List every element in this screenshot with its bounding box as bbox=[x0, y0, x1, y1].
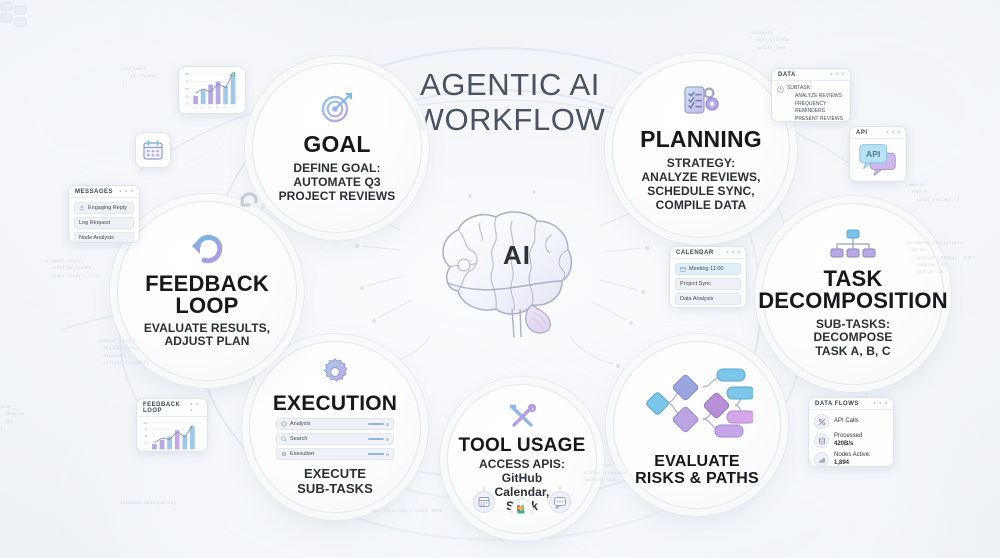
hierarchy-icon bbox=[829, 229, 877, 264]
brain-icon bbox=[420, 205, 590, 340]
node-execution[interactable]: EXECUTION Analysis Search bbox=[249, 341, 421, 513]
node-task-decomposition-subtitle: SUB-TASKS: DECOMPOSE TASK A, B, C bbox=[814, 318, 893, 360]
slack-icon bbox=[511, 499, 533, 514]
progress-bar bbox=[368, 453, 389, 456]
node-goal-title: GOAL bbox=[303, 133, 370, 156]
calendar-icon bbox=[680, 266, 686, 272]
node-task-decomposition[interactable]: TASK DECOMPOSITION SUB-TASKS: DECOMPOSE … bbox=[762, 203, 944, 385]
svg-text:100: 100 bbox=[144, 423, 149, 425]
tools-icon bbox=[507, 404, 537, 433]
page-title-line1: AGENTIC AI bbox=[400, 68, 620, 103]
message-row-label: Node Analysis bbox=[79, 235, 114, 241]
data-flow-row[interactable]: Processed 420B/s bbox=[814, 433, 888, 448]
card-api[interactable]: API • • • API bbox=[849, 126, 907, 182]
decorative-code: status: complete latency: 42ms bbox=[584, 470, 627, 485]
percent-icon bbox=[814, 414, 829, 429]
decorative-code: schedule: sync_calendar notify_team bbox=[751, 30, 791, 52]
execution-row-label: Analysis bbox=[290, 421, 310, 427]
chart-bottom-body: 1007550250 123 456 bbox=[137, 417, 207, 452]
target-icon bbox=[320, 92, 354, 129]
chart-top-body: 1007550250 JanFebMar AprMayJun bbox=[179, 67, 245, 114]
card-data-item: FREQUENCY REMINDERS bbox=[787, 101, 845, 117]
svg-text:50: 50 bbox=[145, 436, 148, 438]
node-execution-subtitle: EXECUTE SUB-TASKS bbox=[297, 466, 373, 496]
svg-text:Apr: Apr bbox=[216, 106, 220, 109]
svg-text:75: 75 bbox=[186, 81, 189, 84]
undo-arrow-icon bbox=[189, 233, 225, 270]
user-icon bbox=[79, 205, 85, 211]
calendar-row[interactable]: Project Sync bbox=[675, 278, 741, 290]
card-api-header: API • • • bbox=[850, 127, 906, 139]
node-feedback-loop-title: FEEDBACK LOOP bbox=[118, 273, 296, 318]
card-data-lead: SUBTASK: bbox=[787, 85, 845, 93]
card-chart-feedback-title: FEEDBACK LOOP bbox=[143, 402, 190, 414]
card-chart-feedback-loop[interactable]: FEEDBACK LOOP • • • 1007550250 bbox=[136, 398, 208, 452]
decorative-code: compose: report: total_reviews: 7 bbox=[906, 182, 960, 204]
card-messages-header: MESSAGES • • • bbox=[69, 186, 139, 198]
card-data[interactable]: DATA • • • SUBTASK: ANALYZE REVIEWS FREQ… bbox=[771, 68, 851, 122]
data-flow-value: 1,894 bbox=[834, 460, 849, 466]
calendar-row-label: Project Sync bbox=[680, 281, 711, 287]
bars-icon bbox=[814, 452, 829, 467]
card-menu-icon[interactable]: • • • bbox=[830, 72, 845, 78]
card-data-item: ANALYZE REVIEWS bbox=[787, 93, 845, 101]
card-calendar-header: CALENDAR • • • bbox=[670, 247, 746, 259]
node-tool-usage-apis-label: ACCESS APIs: bbox=[479, 458, 565, 472]
refresh-icon bbox=[238, 190, 260, 212]
calendar-icon bbox=[474, 492, 495, 513]
node-feedback-loop-subtitle: EVALUATE RESULTS, ADJUST PLAN bbox=[144, 322, 270, 350]
data-flow-label-text: Nodes Active: bbox=[834, 452, 871, 458]
bar-chart-feedback: 1007550250 123 456 bbox=[141, 420, 203, 452]
calendar-icon bbox=[142, 139, 164, 161]
card-menu-icon[interactable]: • • • bbox=[190, 402, 202, 414]
card-menu-icon[interactable]: • • • bbox=[119, 189, 134, 195]
card-data-title: DATA bbox=[778, 72, 796, 78]
ai-label: AI bbox=[487, 240, 547, 271]
api-chat-bubble-icon: API bbox=[855, 141, 901, 177]
cog-icon bbox=[281, 451, 287, 457]
progress-bar bbox=[368, 423, 389, 426]
calendar-row-label: Data Analysis bbox=[680, 296, 713, 302]
card-menu-icon[interactable]: • • • bbox=[873, 401, 888, 407]
node-planning[interactable]: PLANNING STRATEGY: ANALYZE REVIEWS, SCHE… bbox=[612, 60, 790, 238]
decorative-code: loop { observe act } bbox=[0, 404, 24, 433]
execution-row[interactable]: Execution bbox=[276, 448, 394, 460]
execution-task-list: Analysis Search Ex bbox=[276, 418, 394, 460]
data-flow-label: API Calls bbox=[834, 418, 859, 426]
chat-icon bbox=[550, 492, 571, 513]
calendar-row[interactable]: Meeting 11:00 bbox=[675, 263, 741, 275]
card-calendar-title: CALENDAR bbox=[676, 250, 714, 256]
card-api-title: API bbox=[856, 130, 868, 136]
card-data-flows-title: DATA FLOWS bbox=[815, 401, 859, 407]
card-menu-icon[interactable]: • • • bbox=[726, 250, 741, 256]
tool-app-icons bbox=[462, 484, 582, 514]
node-goal-subtitle: DEFINE GOAL: AUTOMATE Q3 PROJECT REVIEWS bbox=[279, 162, 396, 204]
decorative-code: run_task( 'q3_reviews' ) bbox=[122, 66, 160, 88]
svg-text:Jan: Jan bbox=[193, 107, 196, 109]
data-flow-label: Nodes Active: 1,894 bbox=[834, 452, 871, 467]
data-flow-row[interactable]: API Calls bbox=[814, 414, 888, 429]
svg-text:25: 25 bbox=[186, 95, 189, 98]
gear-icon bbox=[321, 358, 349, 391]
server-icon bbox=[814, 433, 829, 448]
card-messages[interactable]: MESSAGES • • • Engaging Reply Log Reques… bbox=[68, 185, 140, 243]
svg-text:0: 0 bbox=[187, 103, 189, 106]
page-title: AGENTIC AI WORKFLOW bbox=[400, 68, 620, 137]
node-planning-title: PLANNING bbox=[640, 128, 762, 151]
card-menu-icon[interactable]: • • • bbox=[886, 130, 901, 136]
decorative-code: planner.step() evaluate(ctx) dispatch() … bbox=[98, 338, 149, 367]
card-data-item: PRESENT REVIEWS bbox=[787, 116, 845, 122]
card-data-flows[interactable]: DATA FLOWS • • • API Calls Processed 420… bbox=[808, 397, 894, 467]
svg-text:50: 50 bbox=[186, 88, 189, 91]
svg-text:Feb: Feb bbox=[201, 107, 205, 109]
execution-row[interactable]: Analysis bbox=[276, 418, 394, 430]
svg-text:25: 25 bbox=[145, 443, 148, 445]
node-execution-title: EXECUTION bbox=[273, 393, 397, 414]
node-tool-usage[interactable]: TOOL USAGE ACCESS APIs: GitHub Calendar,… bbox=[447, 384, 597, 534]
clock-icon bbox=[777, 86, 784, 97]
execution-row[interactable]: Search bbox=[276, 433, 394, 445]
svg-text:Mar: Mar bbox=[208, 106, 212, 109]
message-row[interactable]: Log Request bbox=[74, 217, 134, 229]
infographic-canvas: AGENTIC AI WORKFLOW bbox=[0, 0, 1000, 558]
card-data-body: SUBTASK: ANALYZE REVIEWS FREQUENCY REMIN… bbox=[772, 81, 850, 122]
message-row-label: Engaging Reply bbox=[88, 205, 127, 211]
node-evaluate[interactable]: EVALUATE RISKS & PATHS bbox=[613, 341, 781, 509]
node-planning-subtitle: STRATEGY: ANALYZE REVIEWS, SCHEDULE SYNC… bbox=[641, 157, 760, 213]
decorative-code: decompose_task(items) parse: analyze_rev… bbox=[906, 240, 976, 276]
tile-calendar[interactable] bbox=[135, 132, 171, 168]
execution-row-label: Execution bbox=[290, 451, 314, 457]
decorative-code: # agent.init() workflow_loaded state.rea… bbox=[46, 258, 100, 280]
card-chart-feedback-header: FEEDBACK LOOP • • • bbox=[137, 399, 207, 417]
search-icon bbox=[281, 436, 287, 442]
node-goal[interactable]: GOAL DEFINE GOAL: AUTOMATE Q3 PROJECT RE… bbox=[252, 63, 422, 233]
ai-brain-illustration bbox=[420, 205, 590, 340]
card-messages-title: MESSAGES bbox=[75, 189, 113, 195]
svg-text:75: 75 bbox=[145, 429, 148, 431]
calendar-row[interactable]: Data Analysis bbox=[675, 293, 741, 305]
node-tool-usage-title: TOOL USAGE bbox=[459, 436, 586, 455]
checklist-gear-icon bbox=[681, 85, 721, 124]
svg-text:0: 0 bbox=[145, 449, 147, 451]
svg-text:100: 100 bbox=[185, 73, 190, 76]
card-api-body: API bbox=[850, 139, 906, 181]
info-icon bbox=[281, 421, 287, 427]
node-evaluate-title: EVALUATE RISKS & PATHS bbox=[635, 454, 759, 487]
card-calendar[interactable]: CALENDAR • • • Meeting 11:00 Project Syn… bbox=[669, 246, 747, 308]
message-row-label: Log Request bbox=[79, 220, 110, 226]
data-flow-value: 420B/s bbox=[834, 441, 853, 447]
bar-chart-top: 1007550250 JanFebMar AprMayJun bbox=[183, 70, 241, 110]
data-flow-label: Processed 420B/s bbox=[834, 433, 862, 448]
svg-text:May: May bbox=[223, 107, 228, 109]
card-chart-top[interactable]: 1007550250 JanFebMar AprMayJun bbox=[178, 66, 246, 114]
page-title-line2: WORKFLOW bbox=[400, 103, 620, 138]
data-flow-row[interactable]: Nodes Active: 1,894 bbox=[814, 452, 888, 467]
api-bubble-label: API bbox=[866, 149, 880, 159]
data-flow-label-text: Processed bbox=[834, 433, 862, 439]
card-calendar-body: Meeting 11:00 Project Sync Data Analysis bbox=[670, 259, 746, 308]
svg-text:Jun: Jun bbox=[231, 107, 234, 109]
decision-tree-icon bbox=[641, 363, 753, 446]
decorative-code: api_calls 420 / nodes 1894 bbox=[372, 508, 442, 515]
message-row[interactable]: Node Analysis bbox=[74, 232, 134, 243]
card-messages-body: Engaging Reply Log Request Node Analysis bbox=[69, 198, 139, 243]
decorative-code: feedback.apply(delta) bbox=[120, 500, 176, 507]
message-row[interactable]: Engaging Reply bbox=[74, 202, 134, 214]
card-data-flows-body: API Calls Processed 420B/s Nodes Active:… bbox=[809, 410, 893, 467]
progress-bar bbox=[368, 438, 389, 441]
card-data-flows-header: DATA FLOWS • • • bbox=[809, 398, 893, 410]
calendar-row-label: Meeting 11:00 bbox=[689, 266, 723, 272]
card-data-header: DATA • • • bbox=[772, 69, 850, 81]
execution-row-label: Search bbox=[290, 436, 307, 442]
